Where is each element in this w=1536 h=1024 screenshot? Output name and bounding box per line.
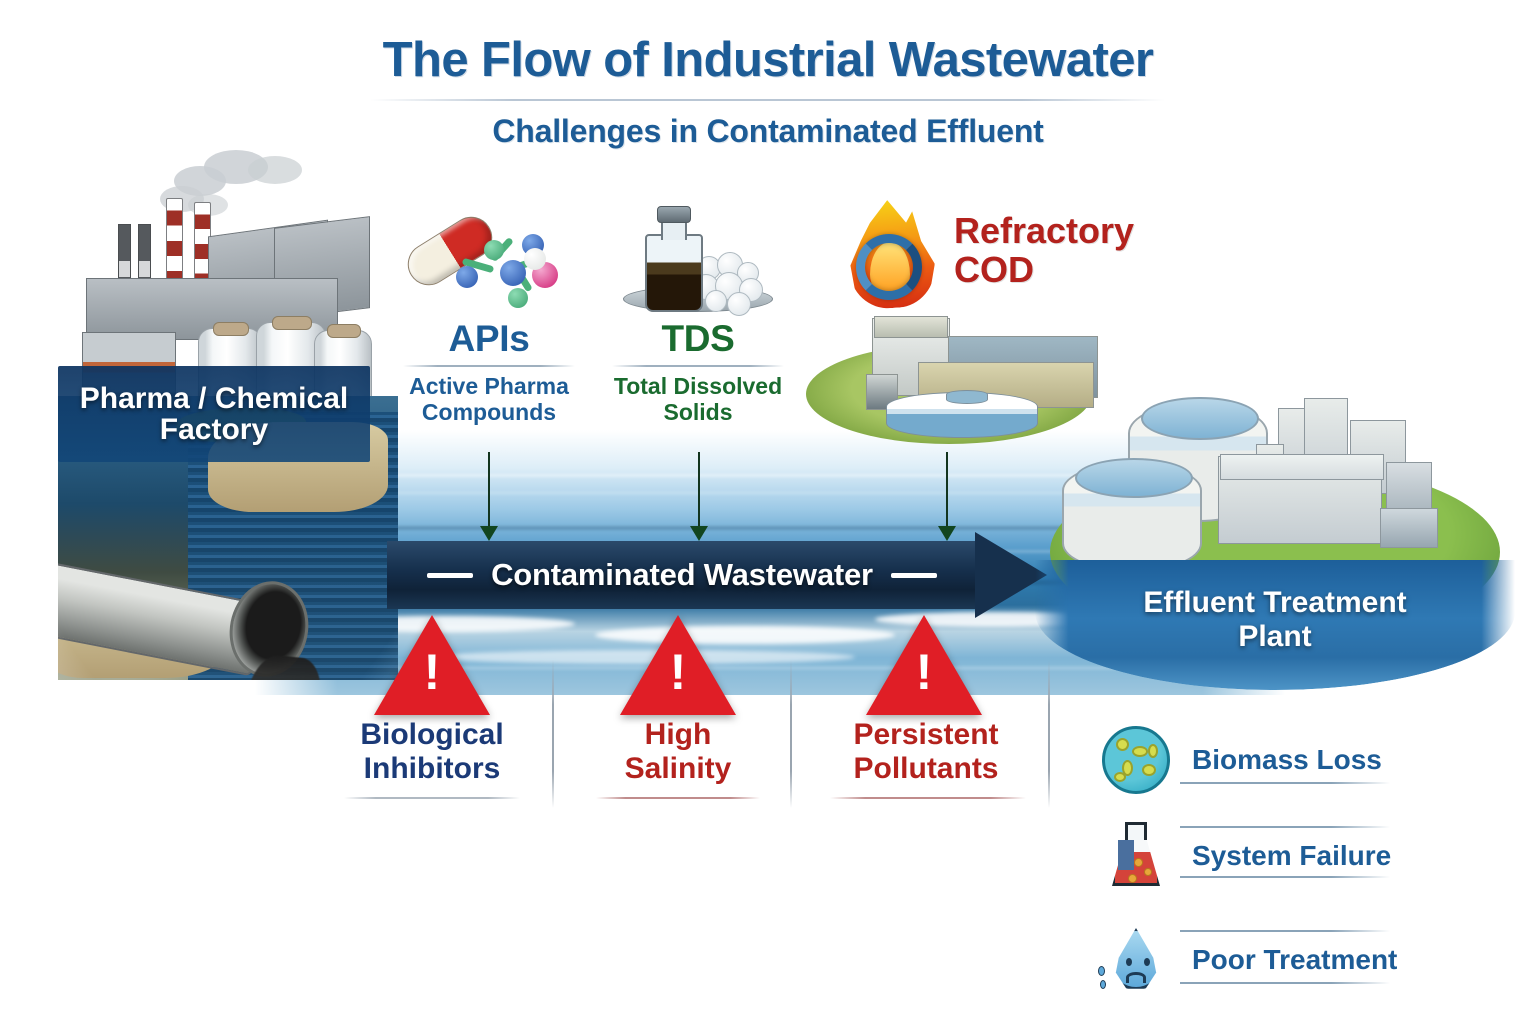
title-divider bbox=[370, 99, 1165, 101]
divider-1 bbox=[552, 660, 554, 808]
page-title: The Flow of Industrial Wastewater bbox=[0, 32, 1536, 88]
warning-label-pollutants: Persistent Pollutants bbox=[824, 718, 1028, 785]
bacteria-circle-icon bbox=[1098, 722, 1174, 798]
pill-and-molecule-icon bbox=[396, 200, 582, 318]
warning-triangle-biological[interactable]: ! bbox=[374, 615, 490, 715]
exclamation-glyph: ! bbox=[374, 647, 490, 697]
warning-label-line1: Biological bbox=[360, 718, 503, 751]
dash-left bbox=[427, 573, 473, 578]
contaminant-desc-line2: Solids bbox=[663, 399, 732, 425]
source-label-line2: Factory bbox=[160, 413, 268, 446]
sad-water-drop-icon bbox=[1098, 922, 1174, 998]
source-label-line1: Pharma / Chemical bbox=[80, 382, 348, 415]
consequence-label: System Failure bbox=[1192, 840, 1391, 872]
consequence-system-failure[interactable]: System Failure bbox=[1098, 818, 1391, 894]
warning-label-line1: Persistent bbox=[853, 718, 998, 751]
cod-label-line1: Refractory bbox=[954, 210, 1134, 251]
warning-label-line2: Inhibitors bbox=[364, 752, 501, 785]
consequence-underline-2a bbox=[1180, 826, 1390, 828]
warning-label-line1: High bbox=[645, 718, 712, 751]
warning-underline-biological bbox=[344, 797, 520, 799]
connector-cod bbox=[946, 452, 948, 528]
cod-label: Refractory COD bbox=[954, 212, 1134, 290]
contaminant-refractory-cod[interactable]: Refractory COD bbox=[834, 198, 1124, 308]
contaminant-tds[interactable]: TDS Total Dissolved Solids bbox=[605, 200, 791, 426]
contaminant-desc-line1: Total Dissolved bbox=[614, 373, 782, 399]
warning-triangle-pollutants[interactable]: ! bbox=[866, 615, 982, 715]
connector-tds bbox=[698, 452, 700, 528]
destination-label-line1: Effluent Treatment bbox=[1143, 586, 1406, 619]
flask-icon bbox=[1098, 818, 1174, 894]
consequence-underline-3b bbox=[1180, 982, 1390, 984]
warning-label-line2: Salinity bbox=[625, 752, 732, 785]
contaminant-rule bbox=[403, 365, 574, 367]
exclamation-glyph: ! bbox=[620, 647, 736, 697]
contaminant-desc-line1: Active Pharma bbox=[409, 373, 569, 399]
contaminated-wastewater-arrow: Contaminated Wastewater bbox=[387, 541, 1047, 609]
flame-ring-icon bbox=[840, 198, 950, 308]
warning-label-biological: Biological Inhibitors bbox=[336, 718, 528, 785]
destination-label: Effluent Treatment Plant bbox=[1040, 586, 1510, 653]
contaminant-abbr: TDS bbox=[605, 318, 791, 360]
contaminant-apis[interactable]: APIs Active Pharma Compounds bbox=[396, 200, 582, 426]
infographic-canvas: The Flow of Industrial Wastewater Challe… bbox=[0, 0, 1536, 1024]
warning-label-salinity: High Salinity bbox=[584, 718, 772, 785]
contaminant-abbr: APIs bbox=[396, 318, 582, 360]
cod-label-line2: COD bbox=[954, 249, 1034, 290]
bottle-and-salt-crystals-icon bbox=[605, 200, 791, 318]
consequence-label: Poor Treatment bbox=[1192, 944, 1397, 976]
consequence-underline-2b bbox=[1180, 876, 1390, 878]
destination-label-line2: Plant bbox=[1238, 620, 1311, 653]
consequence-underline-1 bbox=[1180, 782, 1390, 784]
consequence-underline-3a bbox=[1180, 930, 1390, 932]
consequence-label: Biomass Loss bbox=[1192, 744, 1382, 776]
source-label: Pharma / Chemical Factory bbox=[58, 366, 370, 462]
contaminant-desc-line2: Compounds bbox=[422, 399, 556, 425]
consequence-poor-treatment[interactable]: Poor Treatment bbox=[1098, 922, 1397, 998]
warning-underline-pollutants bbox=[830, 797, 1026, 799]
warning-underline-salinity bbox=[596, 797, 760, 799]
warning-label-line2: Pollutants bbox=[853, 752, 998, 785]
exclamation-glyph: ! bbox=[866, 647, 982, 697]
flow-banner-label: Contaminated Wastewater bbox=[491, 557, 873, 593]
connector-apis bbox=[488, 452, 490, 528]
divider-2 bbox=[790, 660, 792, 808]
consequence-biomass-loss[interactable]: Biomass Loss bbox=[1098, 722, 1382, 798]
contaminant-rule bbox=[612, 365, 783, 367]
warning-triangle-salinity[interactable]: ! bbox=[620, 615, 736, 715]
dash-right bbox=[891, 573, 937, 578]
